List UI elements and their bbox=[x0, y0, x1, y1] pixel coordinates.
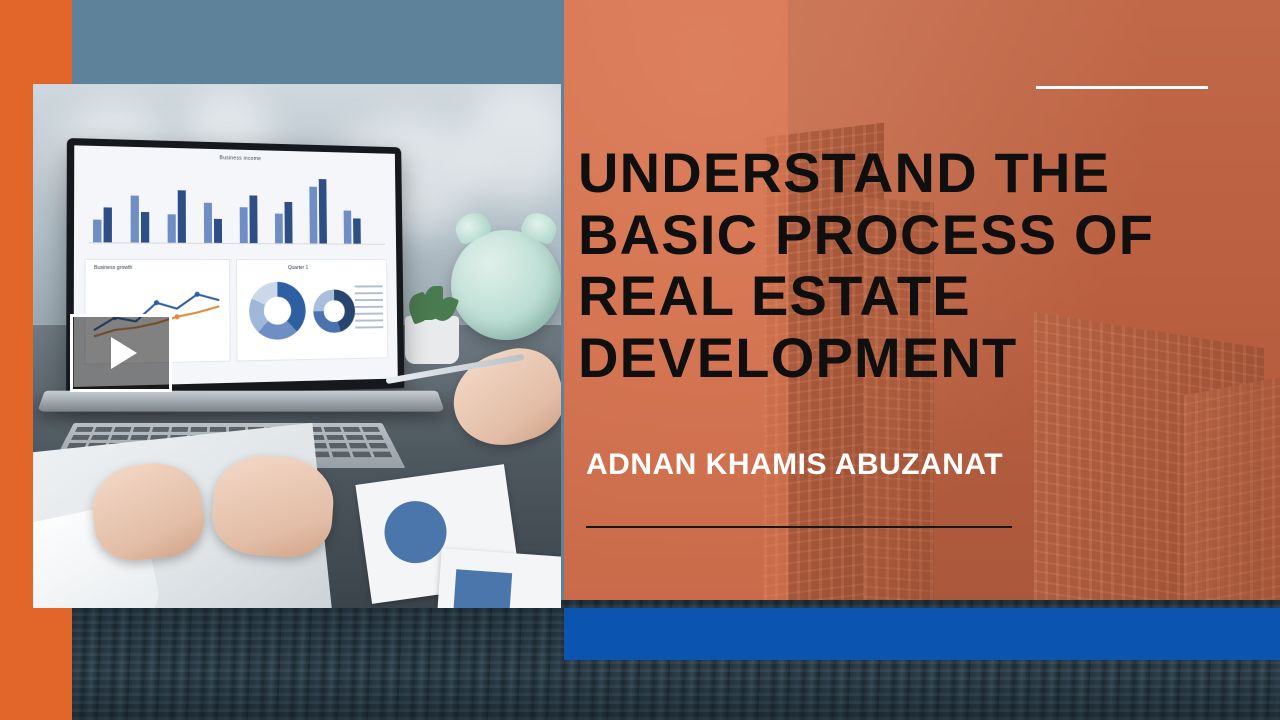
presentation-slide: Business income bbox=[0, 0, 1280, 720]
dashboard-bar-chart bbox=[89, 168, 385, 245]
dashboard-chart-title: Business income bbox=[220, 155, 262, 162]
dashboard-growth-title: Business growth bbox=[94, 265, 132, 271]
dashboard-quarter-title: Quarter 1 bbox=[288, 265, 308, 271]
dashboard-donut-right bbox=[313, 289, 355, 333]
play-icon bbox=[111, 337, 137, 369]
blue-accent-bar bbox=[564, 608, 1280, 660]
alarm-clock bbox=[451, 230, 561, 340]
bottom-decorative-rule bbox=[586, 526, 1012, 528]
laptop-base bbox=[37, 391, 445, 412]
dashboard-quarter-panel: Quarter 1 bbox=[236, 259, 388, 361]
play-video-button[interactable] bbox=[70, 314, 172, 392]
potted-plant bbox=[405, 316, 459, 364]
dashboard-legend bbox=[355, 285, 384, 330]
dashboard-donut-left bbox=[249, 282, 306, 340]
page-title: Understand the basic process of real est… bbox=[578, 142, 1268, 388]
author-name: ADNAN KHAMIS ABUZANAT bbox=[586, 448, 1246, 482]
top-decorative-rule bbox=[1036, 86, 1208, 89]
printed-report-2 bbox=[433, 548, 561, 608]
